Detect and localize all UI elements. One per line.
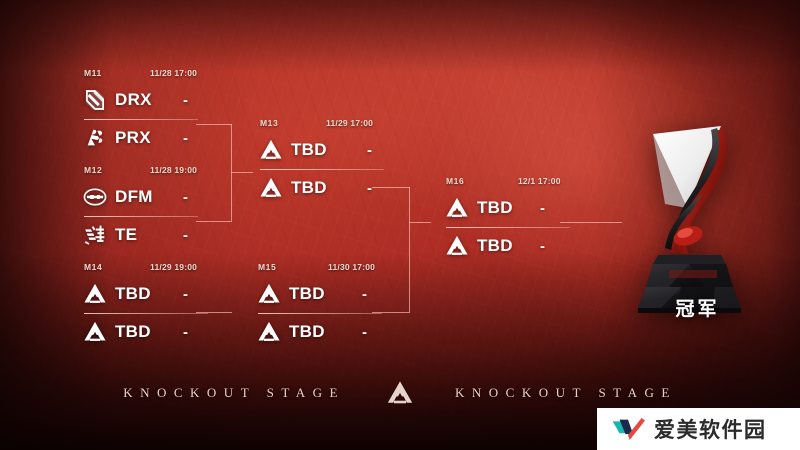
match-m15[interactable]: M15 11/30 17:00 TBD - [252, 262, 382, 351]
dfm-logo [82, 184, 108, 210]
team-name: PRX [115, 128, 151, 148]
match-m16-header: M16 12/1 17:00 [440, 176, 570, 189]
match-m15-id: M15 [258, 262, 276, 272]
match-m13[interactable]: M13 11/29 17:00 TBD - [254, 118, 384, 207]
table-row[interactable]: DFM - [78, 178, 198, 216]
check-mark-logo-icon [611, 416, 645, 442]
drx-logo [82, 87, 108, 113]
connector-m11-out [196, 124, 232, 125]
tbd-logo [444, 233, 470, 259]
team-name: TE [115, 225, 137, 245]
tbd-logo [256, 281, 282, 307]
team-score: - [183, 189, 188, 206]
tbd-logo [258, 137, 284, 163]
match-m13-id: M13 [260, 118, 278, 128]
tournament-bracket-graphic: M11 11/28 17:00 DRX - [0, 0, 800, 450]
table-row[interactable]: TBD - [252, 275, 382, 313]
row-divider [84, 119, 198, 120]
match-m12-id: M12 [84, 165, 102, 175]
match-m16-time: 12/1 17:00 [518, 176, 561, 186]
match-m14-id: M14 [84, 262, 102, 272]
match-m12-time: 11/28 19:00 [150, 165, 197, 175]
connector-into-m13 [231, 172, 253, 173]
table-row[interactable]: TBD - [254, 131, 384, 169]
table-row[interactable]: TBD - [78, 275, 208, 313]
team-name: TBD [115, 284, 151, 304]
match-m11[interactable]: M11 11/28 17:00 DRX - [78, 68, 198, 157]
table-row[interactable]: TBD - [440, 189, 570, 227]
connector-m12-out [196, 221, 232, 222]
team-score: - [540, 238, 545, 255]
match-m16-id: M16 [446, 176, 464, 186]
match-m12[interactable]: M12 11/28 19:00 DFM - [78, 165, 198, 254]
match-m14[interactable]: M14 11/29 19:00 TBD - [78, 262, 208, 351]
tbd-logo [82, 319, 108, 345]
table-row[interactable]: TBD - [254, 169, 384, 207]
row-divider [258, 313, 382, 314]
team-score: - [362, 286, 367, 303]
match-m11-time: 11/28 17:00 [150, 68, 197, 78]
team-name: TBD [289, 284, 325, 304]
team-score: - [183, 227, 188, 244]
prx-logo [82, 125, 108, 151]
team-score: - [183, 92, 188, 109]
team-score: - [367, 180, 372, 197]
tbd-logo [82, 281, 108, 307]
valorant-champions-emblem-icon [385, 378, 415, 408]
row-divider [260, 169, 384, 170]
team-name: TBD [291, 178, 327, 198]
team-name: TBD [477, 198, 513, 218]
watermark-text: 爱美软件园 [654, 414, 767, 444]
tbd-logo [256, 319, 282, 345]
team-score: - [183, 286, 188, 303]
champion-label: 冠军 [625, 294, 770, 321]
team-name: TBD [289, 322, 325, 342]
team-name: TBD [291, 140, 327, 160]
team-name: DFM [115, 187, 153, 207]
table-row[interactable]: TBD - [252, 313, 382, 351]
row-divider [446, 227, 570, 228]
match-m14-header: M14 11/29 19:00 [78, 262, 208, 275]
connector-semifinal-vertical [409, 187, 410, 312]
team-score: - [367, 142, 372, 159]
team-name: TBD [115, 322, 151, 342]
table-row[interactable]: DRX - [78, 81, 198, 119]
watermark: 爱美软件园 [597, 408, 800, 450]
match-m13-time: 11/29 17:00 [326, 118, 373, 128]
match-m16[interactable]: M16 12/1 17:00 TBD - [440, 176, 570, 265]
team-score: - [540, 200, 545, 217]
tbd-logo [258, 175, 284, 201]
team-score: - [362, 324, 367, 341]
match-m15-header: M15 11/30 17:00 [252, 262, 382, 275]
te-logo [82, 222, 108, 248]
match-m12-header: M12 11/28 19:00 [78, 165, 198, 178]
footer-bar: KNOCKOUT STAGE KNOCKOUT STAGE [0, 376, 800, 410]
row-divider [84, 216, 198, 217]
table-row[interactable]: PRX - [78, 119, 198, 157]
match-m14-time: 11/29 19:00 [150, 262, 197, 272]
row-divider [84, 313, 208, 314]
knockout-stage-label-right: KNOCKOUT STAGE [455, 385, 677, 401]
match-m13-header: M13 11/29 17:00 [254, 118, 384, 131]
table-row[interactable]: TBD - [78, 313, 208, 351]
connector-into-m16 [409, 222, 431, 223]
match-m11-id: M11 [84, 68, 102, 78]
team-name: DRX [115, 90, 152, 110]
table-row[interactable]: TE - [78, 216, 198, 254]
team-score: - [183, 324, 188, 341]
knockout-stage-label-left: KNOCKOUT STAGE [123, 385, 345, 401]
table-row[interactable]: TBD - [440, 227, 570, 265]
match-m15-time: 11/30 17:00 [328, 262, 375, 272]
team-name: TBD [477, 236, 513, 256]
match-m11-header: M11 11/28 17:00 [78, 68, 198, 81]
team-score: - [183, 130, 188, 147]
tbd-logo [444, 195, 470, 221]
